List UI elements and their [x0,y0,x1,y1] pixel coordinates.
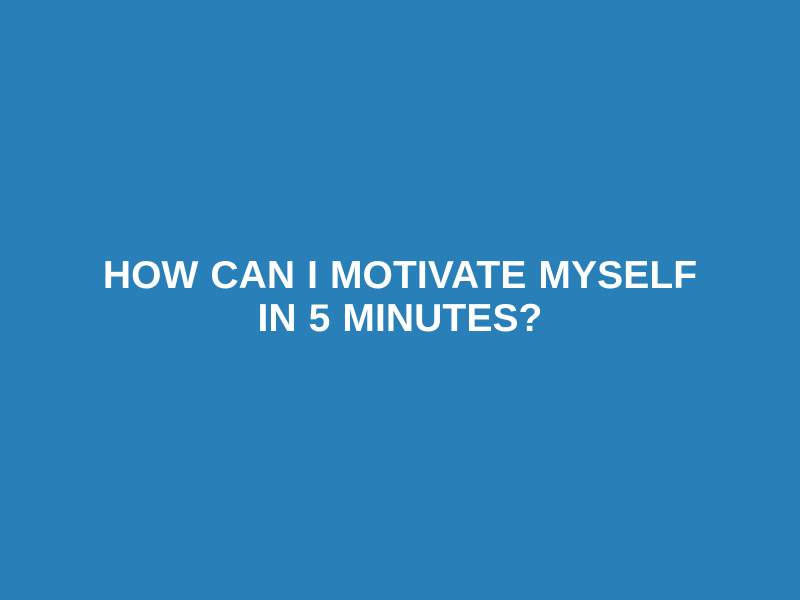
page-title: HOW CAN I MOTIVATE MYSELF IN 5 MINUTES? [100,254,700,340]
hero-banner: HOW CAN I MOTIVATE MYSELF IN 5 MINUTES? [0,0,800,600]
headline-block: HOW CAN I MOTIVATE MYSELF IN 5 MINUTES? [100,254,700,340]
